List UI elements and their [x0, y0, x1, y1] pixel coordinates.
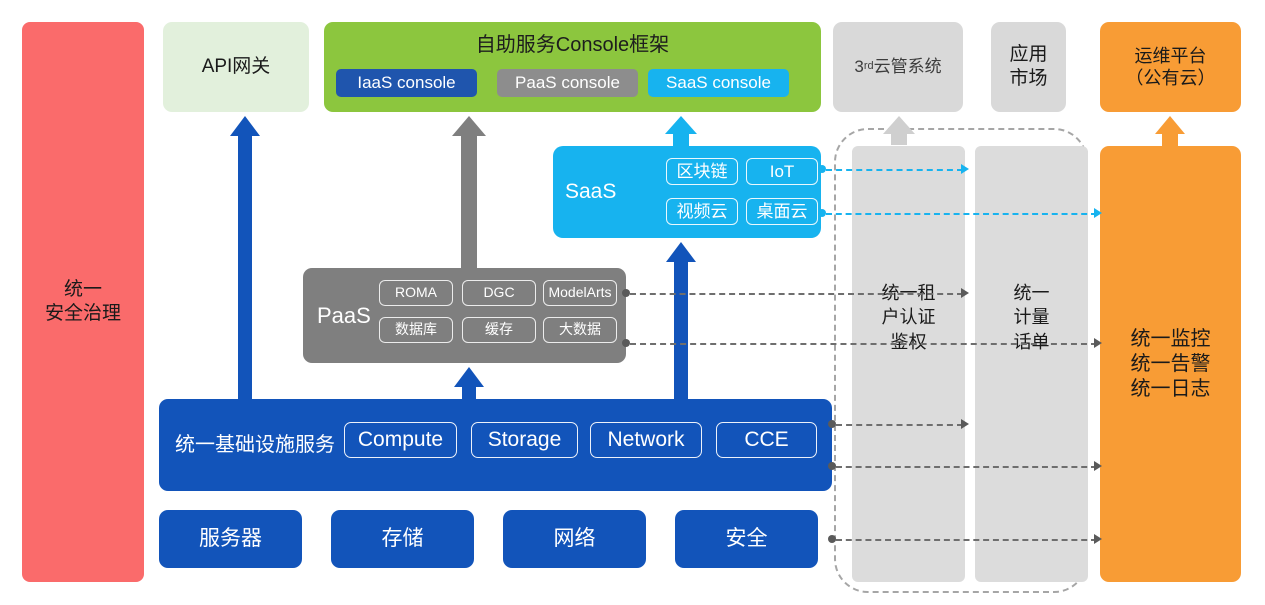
paas-item-modelarts[interactable]: ModelArts: [543, 280, 617, 306]
arrow-paas-to-console: [451, 116, 487, 269]
saas-item-video-cloud[interactable]: 视频云: [666, 198, 738, 225]
arrow-iaas-to-saas: [663, 242, 699, 400]
arrow-head-icon: [1155, 116, 1185, 134]
connector-dot-iaas-2: [828, 462, 836, 470]
connector-dot-paas-2: [622, 339, 630, 347]
hardware-item-storage[interactable]: 存储: [331, 510, 474, 568]
connector-dot-paas-1: [622, 289, 630, 297]
unified-security-governance-column: 统一 安全治理: [22, 22, 144, 582]
arrow-head-icon: [454, 367, 484, 387]
connector-arrowhead-icon: [961, 419, 969, 429]
connector-dot-saas-2: [818, 209, 826, 217]
connector-paas-to-ops: [630, 343, 1097, 345]
arrow-head-icon: [665, 116, 697, 134]
iaas-console-chip[interactable]: IaaS console: [336, 69, 477, 97]
paas-layer-label: PaaS: [317, 268, 371, 363]
arrow-shaft: [891, 133, 907, 145]
arrow-head-icon: [883, 116, 915, 134]
connector-arrowhead-icon: [1094, 461, 1102, 471]
arrow-shaft: [462, 385, 476, 400]
arrow-to-third-party-cloud: [881, 116, 917, 145]
iaas-item-network[interactable]: Network: [590, 422, 702, 458]
arrow-shaft: [673, 133, 689, 147]
connector-arrowhead-icon: [1094, 534, 1102, 544]
third-party-cloud-management-box: 3rd云管系统: [833, 22, 963, 112]
connector-iaas-to-tenant-auth: [836, 424, 963, 426]
saas-item-iot[interactable]: IoT: [746, 158, 818, 185]
arrow-shaft: [674, 262, 688, 400]
connector-arrowhead-icon: [961, 164, 969, 174]
arrow-head-icon: [452, 116, 486, 136]
arrow-shaft: [1162, 133, 1178, 147]
hardware-item-security[interactable]: 安全: [675, 510, 818, 568]
connector-dot-saas-1: [818, 165, 826, 173]
connector-arrowhead-icon: [1094, 208, 1102, 218]
ops-platform-header-box: 运维平台 （公有云）: [1100, 22, 1241, 112]
hardware-item-network[interactable]: 网络: [503, 510, 646, 568]
arrow-head-icon: [666, 242, 696, 262]
hardware-item-server[interactable]: 服务器: [159, 510, 302, 568]
connector-arrowhead-icon: [961, 288, 969, 298]
saas-layer-box: SaaS 区块链 IoT 视频云 桌面云: [553, 146, 821, 238]
connector-dot-iaas-1: [828, 420, 836, 428]
iaas-item-cce[interactable]: CCE: [716, 422, 817, 458]
arrow-iaas-to-paas: [451, 367, 487, 400]
saas-console-chip[interactable]: SaaS console: [648, 69, 789, 97]
paas-item-cache[interactable]: 缓存: [462, 317, 536, 343]
unified-infrastructure-label: 统一基础设施服务: [175, 399, 335, 491]
third-party-label-prefix: 3: [854, 56, 863, 77]
app-market-box: 应用 市场: [991, 22, 1066, 112]
api-gateway-box: API网关: [163, 22, 309, 112]
connector-saas-to-ops: [826, 213, 1097, 215]
connector-dot-hardware: [828, 535, 836, 543]
self-service-console-framework: 自助服务Console框架 IaaS console PaaS console …: [324, 22, 821, 112]
connector-saas-to-tenant-auth: [826, 169, 963, 171]
paas-item-database[interactable]: 数据库: [379, 317, 453, 343]
paas-item-dgc[interactable]: DGC: [462, 280, 536, 306]
arrow-saas-to-console: [663, 116, 699, 147]
console-framework-title: 自助服务Console框架: [324, 33, 821, 58]
arrow-shaft: [238, 136, 252, 400]
unified-infrastructure-services-bar: 统一基础设施服务 Compute Storage Network CCE: [159, 399, 832, 491]
third-party-label-suffix: 云管系统: [874, 56, 942, 77]
paas-item-roma[interactable]: ROMA: [379, 280, 453, 306]
connector-paas-to-tenant-auth: [630, 293, 963, 295]
connector-iaas-to-ops: [836, 466, 1097, 468]
paas-item-bigdata[interactable]: 大数据: [543, 317, 617, 343]
iaas-item-storage[interactable]: Storage: [471, 422, 578, 458]
shared-column-metering: [975, 146, 1088, 582]
iaas-item-compute[interactable]: Compute: [344, 422, 457, 458]
shared-column-tenant-auth: [852, 146, 965, 582]
connector-arrowhead-icon: [1094, 338, 1102, 348]
ops-platform-body-column: 统一监控 统一告警 统一日志: [1100, 146, 1241, 582]
architecture-diagram: 统一 安全治理 API网关 自助服务Console框架 IaaS console…: [0, 0, 1265, 605]
saas-item-desktop-cloud[interactable]: 桌面云: [746, 198, 818, 225]
arrow-iaas-to-api-gateway: [229, 116, 261, 400]
connector-hardware-to-ops: [836, 539, 1097, 541]
arrow-shaft: [461, 136, 477, 269]
saas-item-blockchain[interactable]: 区块链: [666, 158, 738, 185]
saas-layer-label: SaaS: [565, 146, 616, 238]
third-party-label-superscript: rd: [864, 60, 874, 74]
paas-layer-box: PaaS ROMA DGC ModelArts 数据库 缓存 大数据: [303, 268, 626, 363]
arrow-to-ops-platform: [1152, 116, 1188, 147]
arrow-head-icon: [230, 116, 260, 136]
paas-console-chip[interactable]: PaaS console: [497, 69, 638, 97]
